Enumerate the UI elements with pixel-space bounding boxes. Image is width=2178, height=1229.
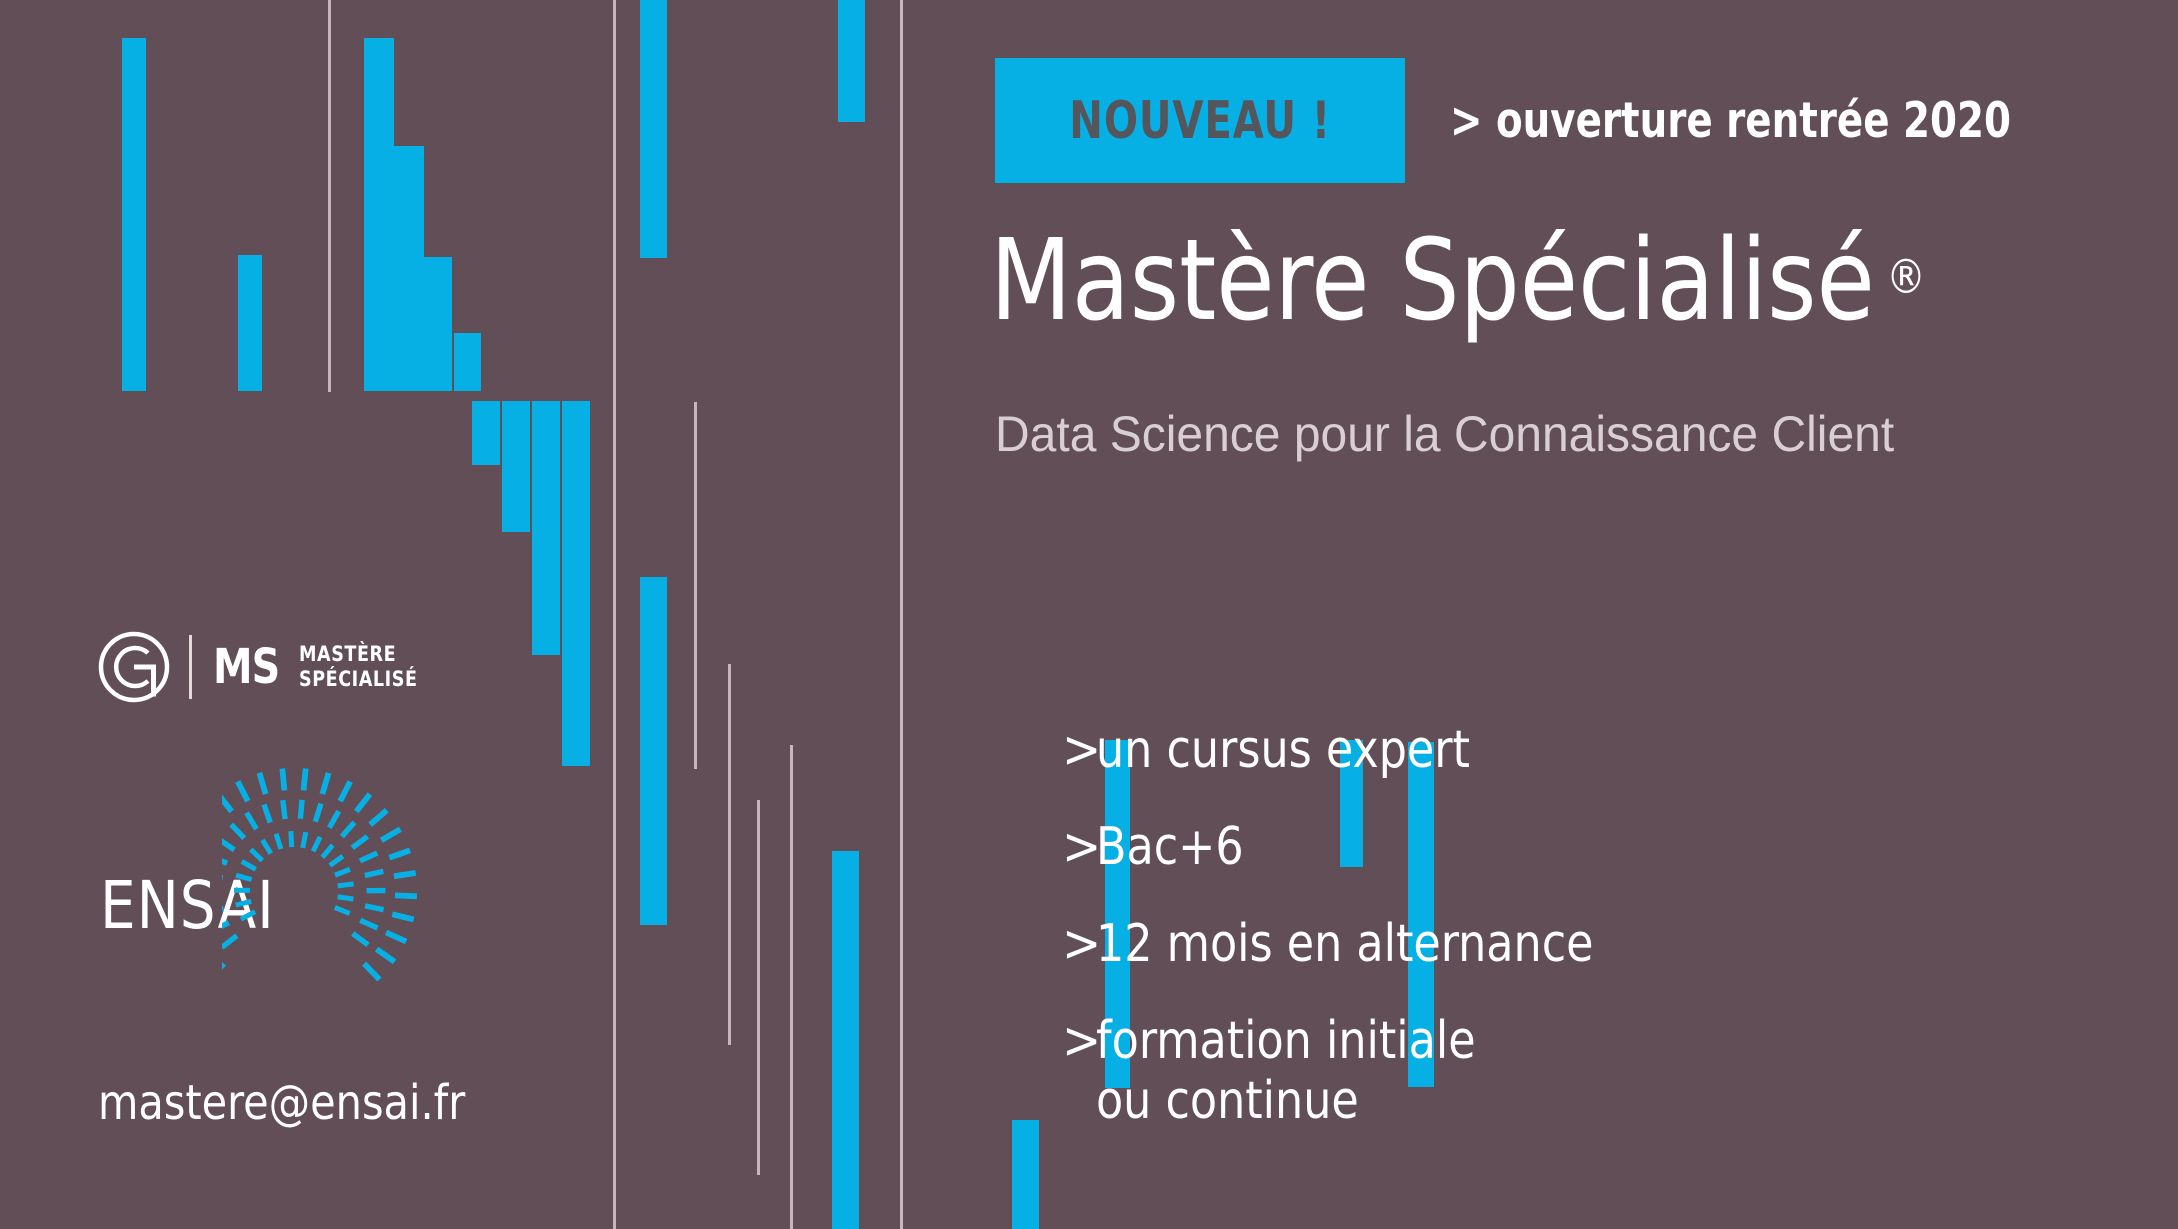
decor-bar — [238, 255, 262, 391]
page-title-text: Mastère Spécialisé — [990, 216, 1875, 346]
decor-bar — [838, 0, 865, 122]
ouverture-rentree-text: > ouverture rentrée 2020 — [1450, 92, 2011, 149]
chevron-right-icon: > — [1062, 720, 1096, 780]
cge-mastere-specialise-logo: MS MASTÈRE SPÉCIALISÉ — [98, 631, 427, 703]
decor-bar — [832, 851, 859, 1229]
decor-rule — [728, 664, 731, 1045]
decor-rule — [613, 0, 616, 1229]
feature-bullet-label: Bac+6 — [1096, 817, 1244, 877]
feature-bullet-item: >12 mois en alternance — [1062, 914, 2162, 974]
decor-bar — [424, 257, 452, 391]
ms-wordmark-line1: MASTÈRE — [299, 642, 418, 667]
feature-bullet-item: >un cursus expert — [1062, 720, 2162, 780]
content-column: NOUVEAU ! > ouverture rentrée 2020 Mastè… — [995, 0, 2178, 1229]
logo-divider — [189, 635, 192, 699]
decor-rule — [790, 745, 793, 1229]
ms-wordmark: MASTÈRE SPÉCIALISÉ — [299, 642, 418, 692]
decor-bar — [472, 401, 500, 465]
chevron-right-icon: > — [1062, 914, 1096, 974]
feature-bullet-label: 12 mois en alternance — [1096, 914, 1594, 974]
page-subtitle: Data Science pour la Connaissance Client — [995, 405, 1894, 463]
chevron-right-icon: > — [1062, 1011, 1096, 1071]
decor-bar — [640, 577, 667, 925]
feature-bullet-item: >Bac+6 — [1062, 817, 2162, 877]
decor-bar — [122, 38, 146, 391]
decor-bar — [394, 146, 424, 391]
badge-row: NOUVEAU ! > ouverture rentrée 2020 — [995, 58, 2088, 183]
decor-bar — [640, 0, 667, 258]
poster-canvas: MS MASTÈRE SPÉCIALISÉ ENSAI mastere@ensa… — [0, 0, 2178, 1229]
ms-initials: MS — [213, 639, 279, 695]
feature-bullet-label: un cursus expert — [1096, 720, 1470, 780]
page-title: Mastère Spécialisé® — [990, 225, 1926, 337]
chevron-right-icon: > — [1062, 817, 1096, 877]
decor-rule — [757, 800, 760, 1175]
nouveau-badge: NOUVEAU ! — [995, 58, 1405, 183]
decor-bar — [364, 38, 394, 391]
feature-bullet-item: >formation initiale ou continue — [1062, 1011, 2162, 1131]
nouveau-badge-label: NOUVEAU ! — [1069, 91, 1331, 151]
decor-bar — [562, 401, 590, 766]
decor-rule — [328, 0, 331, 392]
feature-bullet-list: >un cursus expert>Bac+6>12 mois en alter… — [1062, 720, 2162, 1168]
decor-rule — [900, 0, 903, 1229]
decor-bar — [532, 401, 560, 655]
decor-bar — [502, 401, 530, 532]
ensai-logo: ENSAI — [100, 775, 410, 1025]
feature-bullet-label: formation initiale ou continue — [1096, 1011, 1476, 1131]
decor-rule — [694, 402, 697, 769]
contact-email[interactable]: mastere@ensai.fr — [98, 1075, 465, 1131]
cge-g-monogram-icon — [98, 631, 170, 703]
ensai-dashed-swirl-icon — [222, 767, 422, 1022]
registered-trademark-icon: ® — [1886, 250, 1926, 305]
decor-bar — [454, 333, 481, 391]
ms-wordmark-line2: SPÉCIALISÉ — [299, 667, 418, 692]
